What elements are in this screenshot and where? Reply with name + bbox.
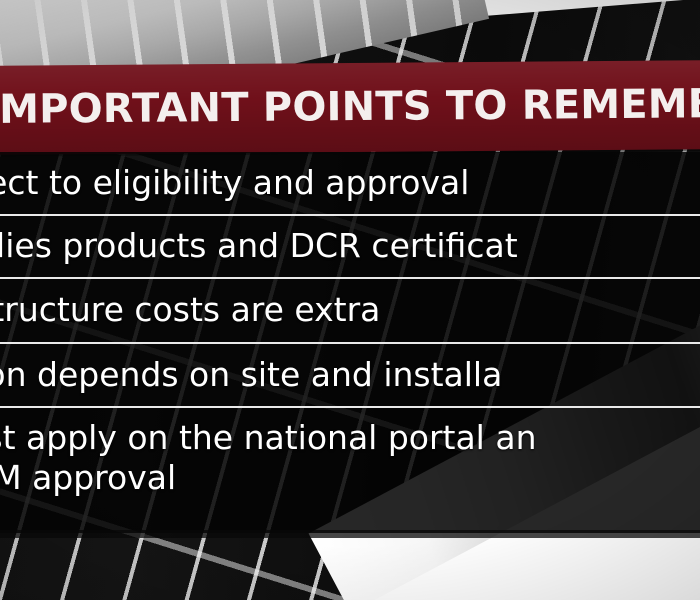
- list-item: is subject to eligibility and approval: [0, 152, 700, 216]
- bottom-overlay-band: [0, 530, 700, 538]
- list-item: er must apply on the national portal an …: [0, 408, 700, 533]
- list-item: eneration depends on site and installa: [0, 344, 700, 408]
- point-text-eligibility: is subject to eligibility and approval: [0, 163, 469, 203]
- points-list: is subject to eligibility and approval r…: [0, 152, 700, 533]
- point-text-national-portal-wrap: er must apply on the national portal an …: [0, 418, 700, 499]
- page-title: IMPORTANT POINTS TO REMEMBER: [0, 80, 700, 132]
- list-item: on and structure costs are extra: [0, 279, 700, 344]
- point-text-national-portal-line1: er must apply on the national portal an: [0, 418, 700, 458]
- point-text-installation-cost: on and structure costs are extra: [0, 290, 380, 330]
- point-text-national-portal-line2: DISCOM approval: [0, 458, 700, 498]
- header-banner: IMPORTANT POINTS TO REMEMBER: [0, 60, 700, 155]
- slide-canvas: IMPORTANT POINTS TO REMEMBER is subject …: [0, 0, 700, 600]
- point-text-dcr-certificate: r supplies products and DCR certificat: [0, 226, 518, 266]
- point-text-generation: eneration depends on site and installa: [0, 355, 502, 395]
- list-item: r supplies products and DCR certificat: [0, 216, 700, 279]
